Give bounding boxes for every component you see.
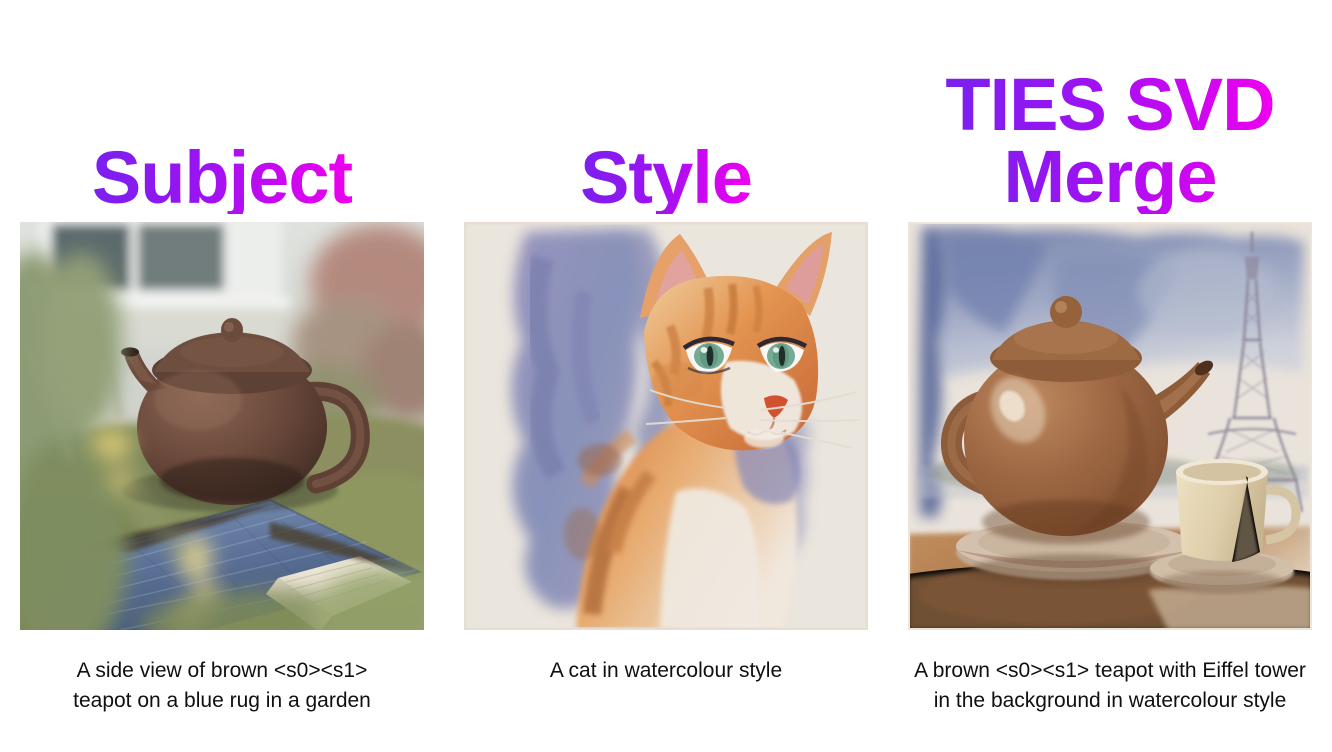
caption-ties-svd-merge: A brown <s0><s1> teapot with Eiffel towe… [895, 656, 1325, 716]
image-subject-photo [20, 222, 424, 630]
title-subject: Subject [92, 142, 352, 214]
caption-style: A cat in watercolour style [451, 656, 881, 686]
caption-subject: A side view of brown <s0><s1> teapot on … [7, 656, 437, 716]
title-ties-svd-merge: TIES SVD Merge [945, 69, 1274, 214]
title-style: Style [580, 142, 752, 214]
slide-root: Subject [0, 0, 1332, 752]
title-zone-style: Style [444, 0, 888, 222]
title-zone-subject: Subject [0, 0, 444, 222]
column-style: Style [444, 0, 888, 752]
column-subject: Subject [0, 0, 444, 752]
image-style-watercolour-cat [464, 222, 868, 630]
title-zone-merge: TIES SVD Merge [888, 0, 1332, 222]
image-merge-watercolour-teapot-eiffel [908, 222, 1312, 630]
column-ties-svd-merge: TIES SVD Merge [888, 0, 1332, 752]
three-column-layout: Subject [0, 0, 1332, 752]
